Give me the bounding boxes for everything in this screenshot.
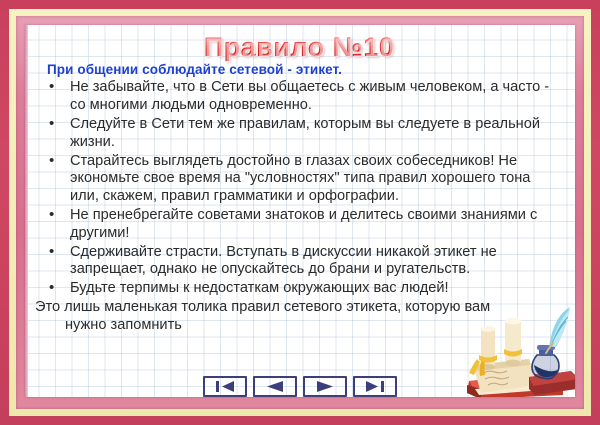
slide-subtitle: При общении соблюдайте сетевой - этикет. [47, 62, 563, 77]
slide-content: Правило №10 При общении соблюдайте сетев… [25, 25, 575, 397]
list-item: Старайтесь выглядеть достойно в глазах с… [41, 153, 563, 206]
presentation-slide: Правило №10 При общении соблюдайте сетев… [0, 0, 600, 425]
list-item: Будьте терпимы к недостаткам окружающих … [41, 280, 563, 298]
closing-line-1: Это лишь маленькая толика правил сетевог… [35, 299, 490, 315]
grid-paper-background: Правило №10 При общении соблюдайте сетев… [25, 25, 575, 397]
last-slide-button[interactable] [353, 376, 397, 397]
skip-to-last-icon [364, 380, 386, 393]
rose-border-frame: Правило №10 При общении соблюдайте сетев… [16, 16, 584, 409]
skip-to-first-icon [214, 380, 236, 393]
previous-slide-button[interactable] [253, 376, 297, 397]
list-item: Следуйте в Сети тем же правилам, которым… [41, 116, 563, 152]
first-slide-button[interactable] [203, 376, 247, 397]
list-item: Не забывайте, что в Сети вы общаетесь с … [41, 79, 563, 115]
triangle-left-icon [264, 380, 286, 393]
next-slide-button[interactable] [303, 376, 347, 397]
slide-title: Правило №10 [35, 33, 563, 61]
list-item: Не пренебрегайте советами знатоков и дел… [41, 207, 563, 243]
rules-list: Не забывайте, что в Сети вы общаетесь с … [35, 79, 563, 298]
slide-navigation-bar[interactable] [25, 376, 575, 397]
closing-paragraph: Это лишь маленькая толика правил сетевог… [35, 299, 563, 335]
cream-border-frame: Правило №10 При общении соблюдайте сетев… [9, 9, 591, 416]
closing-line-2: нужно запомнить [35, 317, 563, 335]
triangle-right-icon [314, 380, 336, 393]
list-item: Сдерживайте страсти. Вступать в дискусси… [41, 244, 563, 280]
